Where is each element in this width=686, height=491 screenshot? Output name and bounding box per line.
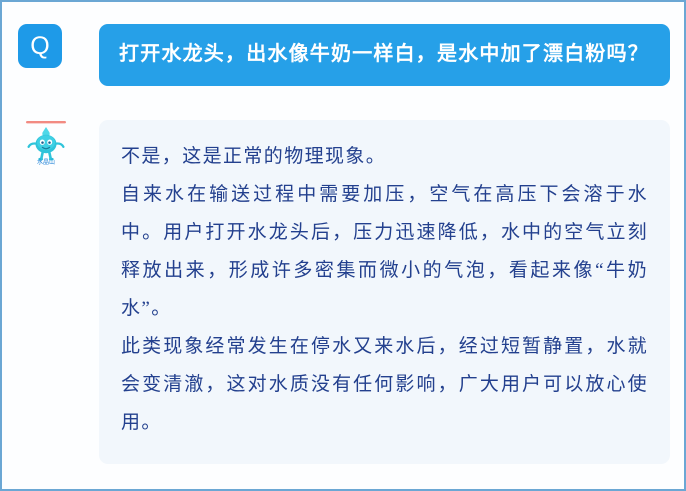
mascot-label: 水晶山	[22, 160, 70, 167]
question-text: 打开水龙头，出水像牛奶一样白，是水中加了漂白粉吗？	[119, 37, 650, 71]
answer-avatar: 水晶山	[22, 118, 70, 168]
question-avatar: Q	[18, 24, 62, 68]
answer-text: 不是，这是正常的物理现象。 自来水在输送过程中需要加压，空气在高压下会溶于水中。…	[121, 138, 648, 442]
answer-bubble: 不是，这是正常的物理现象。 自来水在输送过程中需要加压，空气在高压下会溶于水中。…	[99, 120, 670, 464]
qa-card: Q 打开水龙头，出水像牛奶一样白，是水中加了漂白粉吗？	[0, 0, 686, 491]
question-bubble: 打开水龙头，出水像牛奶一样白，是水中加了漂白粉吗？	[99, 24, 670, 86]
